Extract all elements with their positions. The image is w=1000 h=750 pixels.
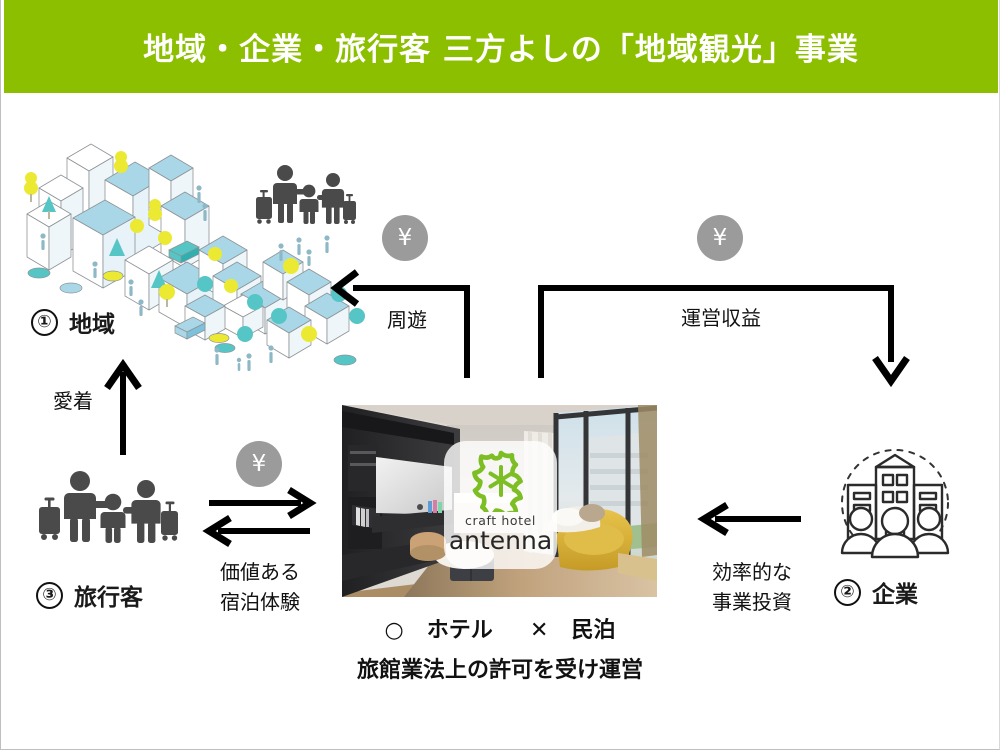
node-text-region: 地域 — [69, 305, 115, 339]
family-travelers-icon-top — [254, 163, 358, 235]
caption-note: 旅館業法上の許可を受け運営 — [342, 652, 658, 684]
yen-symbol: ¥ — [252, 451, 267, 477]
antenna-logo-mark — [470, 450, 532, 512]
node-number-traveler: ③ — [36, 582, 63, 609]
hotel-caption: ○ ホテル ✕ 民泊 旅館業法上の許可を受け運営 — [342, 612, 658, 684]
flow-label-investment: 効率的な 事業投資 — [687, 557, 817, 617]
arrow-investment — [704, 505, 801, 533]
cityscape-illustration — [9, 110, 369, 380]
node-text-company: 企業 — [872, 575, 918, 609]
flow-label-stay-value-line1: 価値ある — [195, 557, 325, 587]
ok-label: ホテル — [427, 618, 493, 643]
flow-label-tour: 周遊 — [370, 305, 444, 335]
yen-badge-tour: ¥ — [382, 215, 428, 261]
ok-mark: ○ — [384, 618, 403, 643]
node-label-region: ① 地域 — [31, 305, 115, 339]
office-building-people-icon — [828, 447, 963, 562]
node-label-company: ② 企業 — [834, 575, 918, 609]
node-text-traveler: 旅行客 — [74, 578, 143, 612]
arrow-stay-value — [209, 490, 310, 544]
family-travelers-icon — [37, 470, 182, 550]
yen-symbol: ¥ — [398, 225, 413, 251]
yen-badge-stay-value: ¥ — [236, 441, 282, 487]
node-label-traveler: ③ 旅行客 — [36, 578, 143, 612]
flow-label-stay-value: 価値ある 宿泊体験 — [195, 557, 325, 617]
flow-label-investment-line1: 効率的な — [687, 557, 817, 587]
ng-label: 民泊 — [572, 618, 616, 643]
arrow-revenue — [541, 288, 907, 381]
flow-label-attachment: 愛着 — [37, 386, 109, 416]
ng-mark: ✕ — [530, 618, 548, 643]
slide-canvas: 地域・企業・旅行客 三方よしの「地域観光」事業 — [0, 0, 1000, 750]
title-banner: 地域・企業・旅行客 三方よしの「地域観光」事業 — [4, 0, 998, 93]
logo-name: antenna — [449, 528, 552, 554]
flow-label-stay-value-line2: 宿泊体験 — [195, 587, 325, 617]
yen-symbol: ¥ — [713, 225, 728, 251]
yen-badge-revenue: ¥ — [697, 215, 743, 261]
node-number-region: ① — [31, 309, 58, 336]
node-number-company: ② — [834, 579, 861, 606]
flow-label-investment-line2: 事業投資 — [687, 587, 817, 617]
flow-label-revenue: 運営収益 — [656, 303, 786, 333]
caption-permission-types: ○ ホテル ✕ 民泊 — [342, 612, 658, 644]
hotel-logo: craft hotel antenna — [444, 441, 557, 569]
page-title: 地域・企業・旅行客 三方よしの「地域観光」事業 — [143, 24, 859, 69]
